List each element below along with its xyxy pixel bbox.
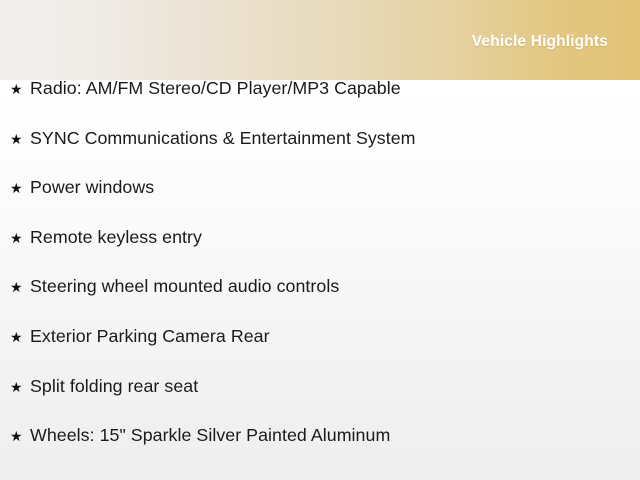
list-item: ★ Steering wheel mounted audio controls <box>0 278 640 328</box>
star-bullet-icon: ★ <box>10 280 30 294</box>
list-item: ★ Remote keyless entry <box>0 229 640 279</box>
highlights-section: ★ Radio: AM/FM Stereo/CD Player/MP3 Capa… <box>0 80 640 480</box>
list-item-label: Wheels: 15" Sparkle Silver Painted Alumi… <box>30 427 390 445</box>
list-item: ★ Power windows <box>0 179 640 229</box>
highlights-list: ★ Radio: AM/FM Stereo/CD Player/MP3 Capa… <box>0 80 640 477</box>
list-item: ★ Radio: AM/FM Stereo/CD Player/MP3 Capa… <box>0 80 640 130</box>
list-item: ★ Split folding rear seat <box>0 378 640 428</box>
star-bullet-icon: ★ <box>10 181 30 195</box>
vehicle-highlights-panel: Vehicle Highlights ★ Radio: AM/FM Stereo… <box>0 0 640 480</box>
list-item-label: Split folding rear seat <box>30 378 198 396</box>
star-bullet-icon: ★ <box>10 380 30 394</box>
star-bullet-icon: ★ <box>10 231 30 245</box>
list-item-label: Radio: AM/FM Stereo/CD Player/MP3 Capabl… <box>30 80 401 98</box>
list-item-label: Exterior Parking Camera Rear <box>30 328 270 346</box>
page-title: Vehicle Highlights <box>472 34 608 50</box>
list-item: ★ Exterior Parking Camera Rear <box>0 328 640 378</box>
star-bullet-icon: ★ <box>10 82 30 96</box>
header-band: Vehicle Highlights <box>0 0 640 80</box>
list-item-label: SYNC Communications & Entertainment Syst… <box>30 130 416 148</box>
list-item-label: Remote keyless entry <box>30 229 202 247</box>
star-bullet-icon: ★ <box>10 132 30 146</box>
star-bullet-icon: ★ <box>10 429 30 443</box>
list-item: ★ Wheels: 15" Sparkle Silver Painted Alu… <box>0 427 640 477</box>
star-bullet-icon: ★ <box>10 330 30 344</box>
list-item-label: Power windows <box>30 179 154 197</box>
list-item: ★ SYNC Communications & Entertainment Sy… <box>0 130 640 180</box>
list-item-label: Steering wheel mounted audio controls <box>30 278 339 296</box>
